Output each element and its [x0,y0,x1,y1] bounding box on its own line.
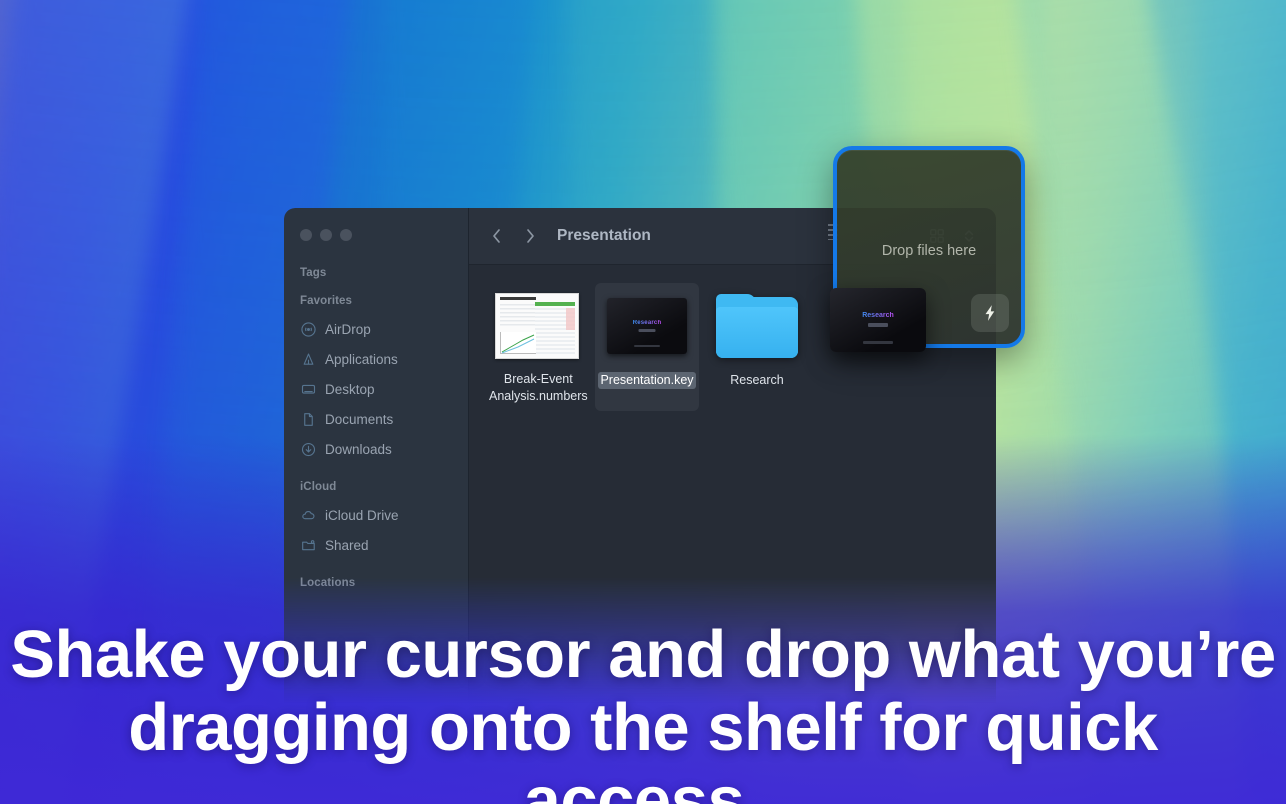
file-label: Break-Event Analysis.numbers [487,371,590,405]
file-item-keynote[interactable]: Research Presentation.key [595,283,699,411]
zoom-button[interactable] [340,229,352,241]
drop-files-label: Drop files here [837,243,1021,259]
screenshot-stage: Tags Favorites AirDrop Appli [0,0,1286,804]
file-item-numbers[interactable]: Break-Event Analysis.numbers [485,283,589,411]
folder-icon [707,287,807,365]
dragged-slide-title: Research [830,312,926,319]
sidebar-item-label: AirDrop [325,322,371,337]
sidebar-section-header-tags: Tags [284,258,468,286]
sidebar-item-label: Desktop [325,382,375,397]
minimize-button[interactable] [320,229,332,241]
page-title: Presentation [557,227,651,245]
sidebar-item-downloads[interactable]: Downloads [284,434,468,464]
close-button[interactable] [300,229,312,241]
downloads-icon [300,441,316,457]
cloud-icon [300,507,316,523]
forward-button[interactable] [517,223,543,249]
sidebar-item-icloud-drive[interactable]: iCloud Drive [284,500,468,530]
sidebar-item-documents[interactable]: Documents [284,404,468,434]
sidebar-item-label: Shared [325,538,369,553]
desktop-icon [300,381,316,397]
window-traffic-lights [284,208,468,258]
file-label: Research [728,372,786,389]
slide-title-text: Research [607,320,687,326]
shared-folder-icon [300,537,316,553]
sidebar-item-shared[interactable]: Shared [284,530,468,560]
sidebar-item-airdrop[interactable]: AirDrop [284,314,468,344]
file-label: Presentation.key [598,372,695,389]
numbers-thumbnail [487,287,587,365]
airdrop-icon [300,321,316,337]
sidebar-item-desktop[interactable]: Desktop [284,374,468,404]
back-button[interactable] [483,223,509,249]
file-item-folder[interactable]: Research [705,283,809,411]
sidebar-item-label: Downloads [325,442,392,457]
dragged-file-thumbnail[interactable]: Research [830,288,926,352]
document-icon [300,411,316,427]
sidebar-section-header-icloud: iCloud [284,464,468,500]
keynote-thumbnail: Research [597,287,697,365]
headline-text: Shake your cursor and drop what you’re d… [0,618,1286,804]
sidebar-item-label: iCloud Drive [325,508,399,523]
sidebar-item-applications[interactable]: Applications [284,344,468,374]
applications-icon [300,351,316,367]
lightning-bolt-icon[interactable] [971,294,1009,332]
sidebar-item-label: Applications [325,352,398,367]
sidebar-section-header-locations: Locations [284,560,468,596]
sidebar-item-label: Documents [325,412,393,427]
sidebar-section-header-favorites: Favorites [284,286,468,314]
